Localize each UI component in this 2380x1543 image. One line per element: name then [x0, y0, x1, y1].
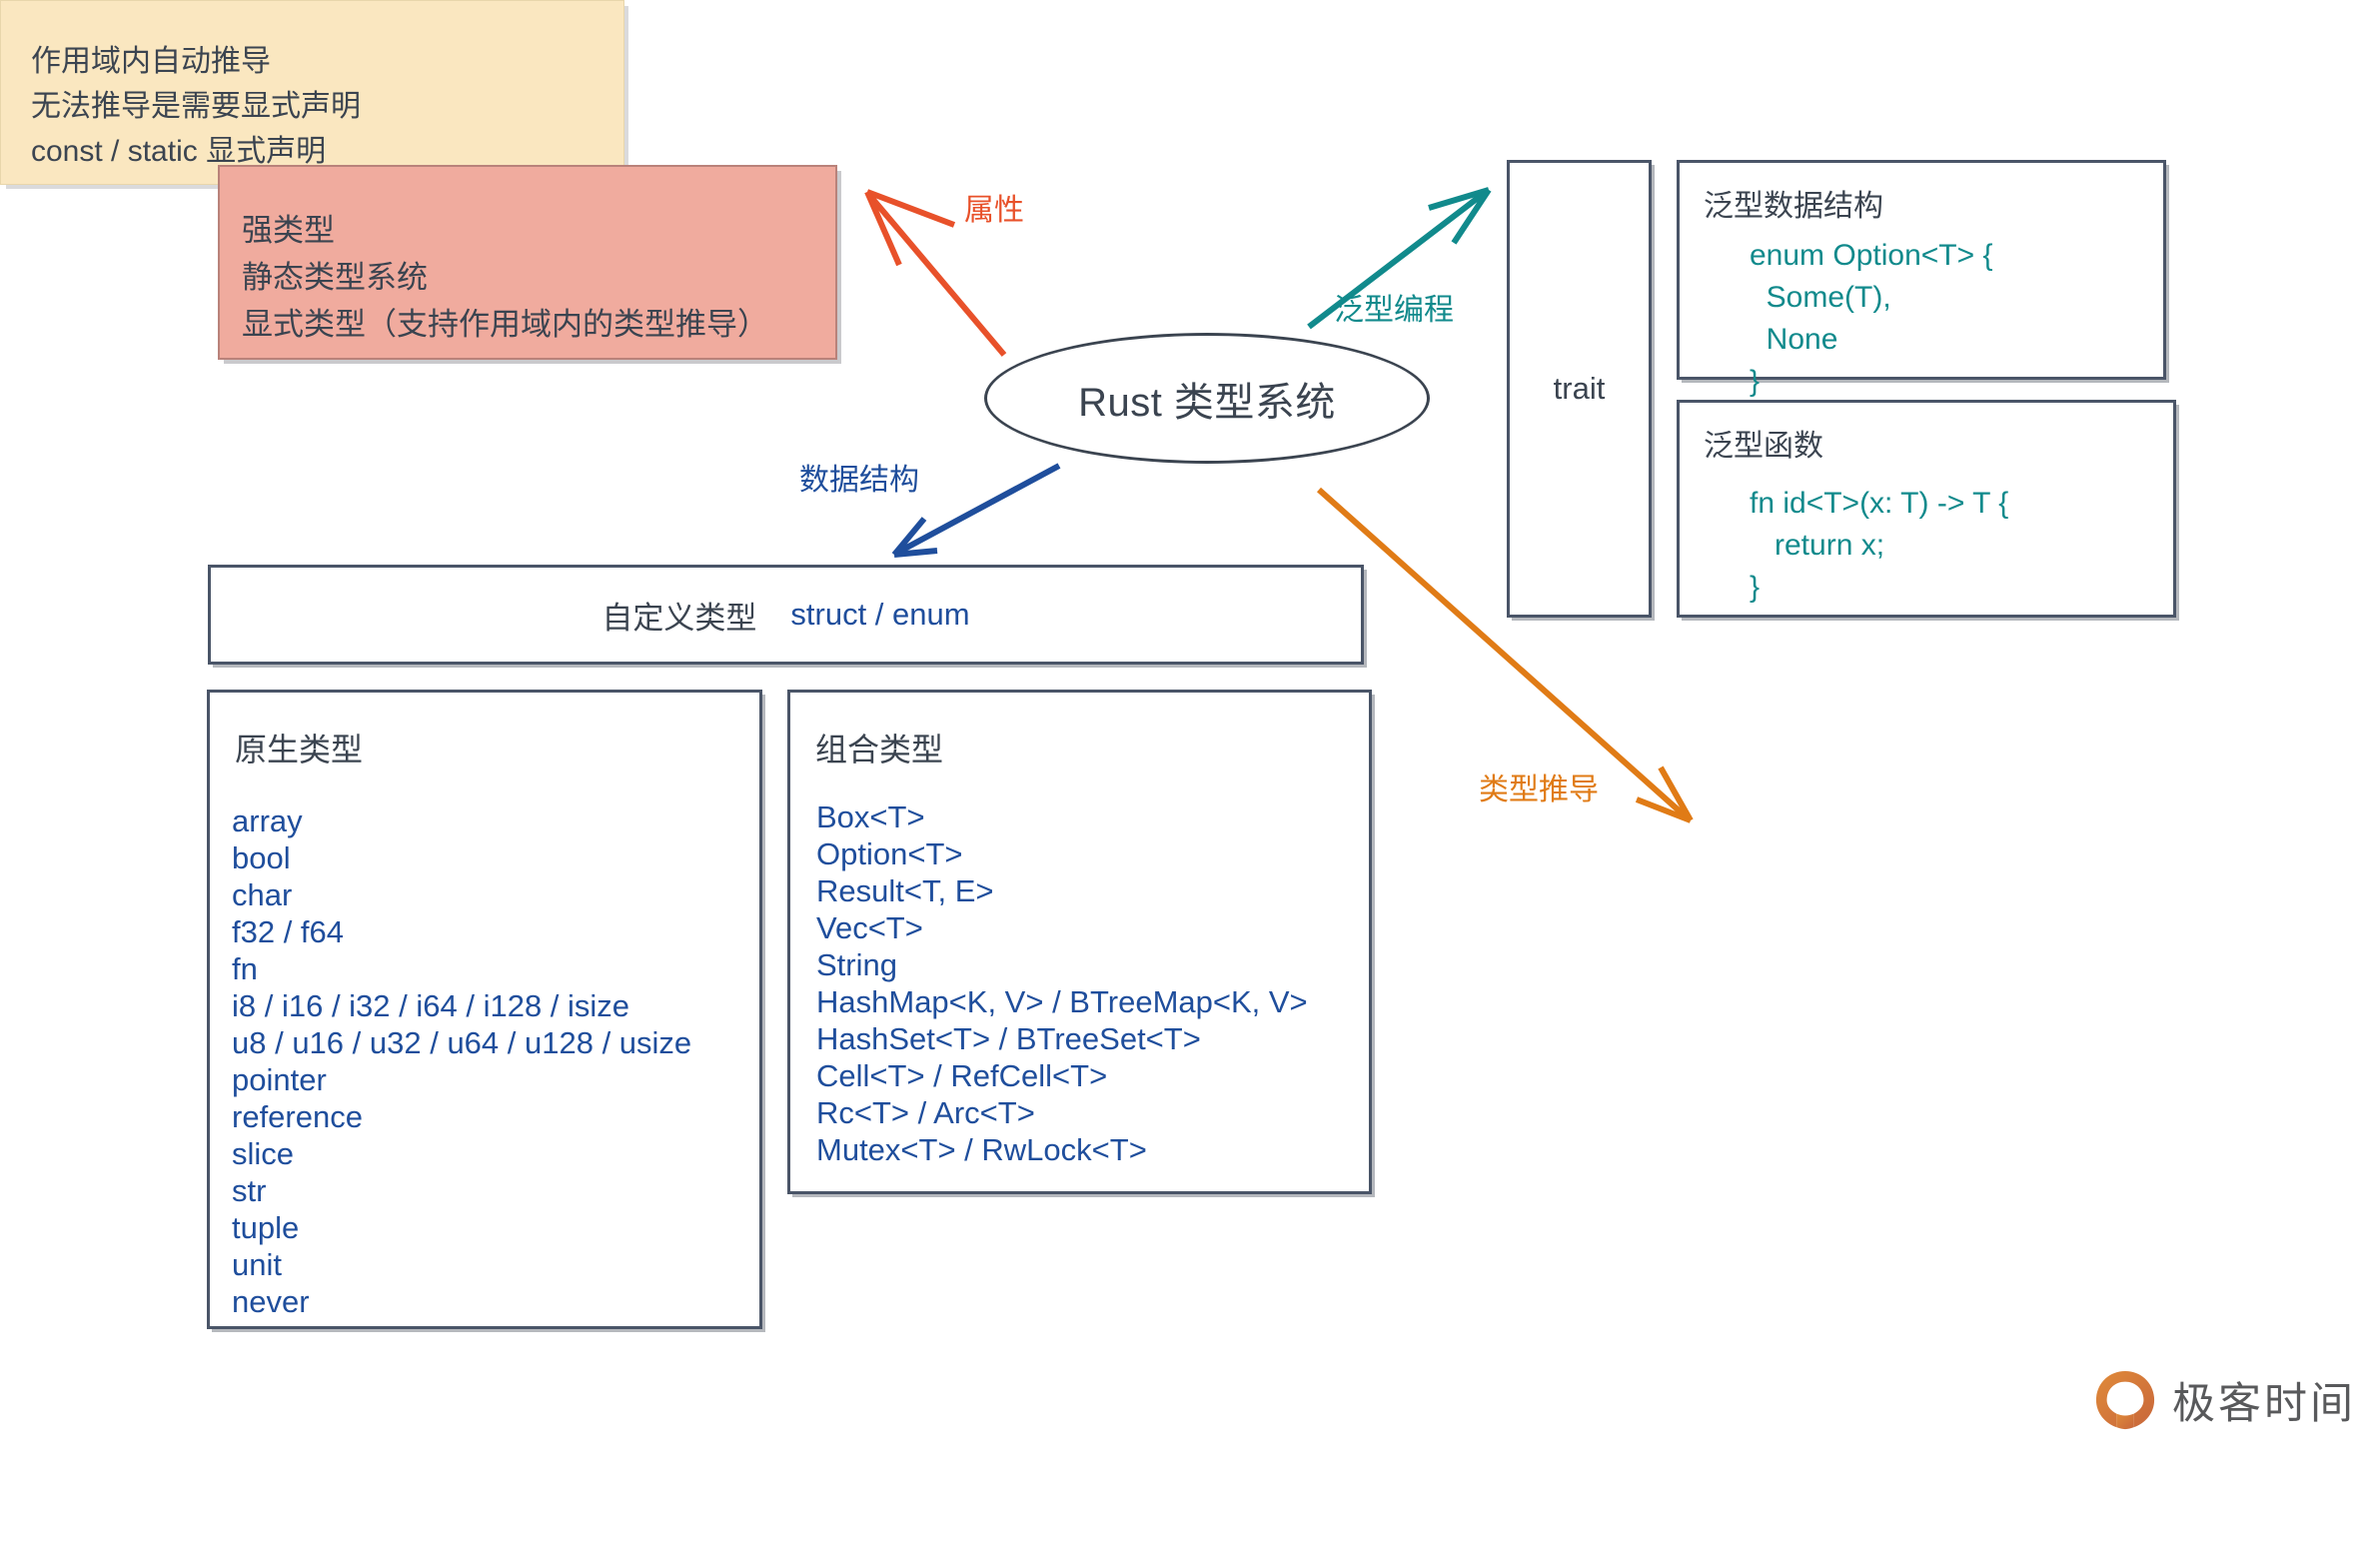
attributes-line: 显式类型（支持作用域内的类型推导）: [242, 301, 835, 348]
list-item: String: [816, 946, 1308, 983]
list-item: slice: [232, 1135, 691, 1172]
list-item: pointer: [232, 1061, 691, 1098]
trait-box: trait: [1507, 160, 1652, 618]
list-item: f32 / f64: [232, 913, 691, 950]
list-item: Result<T, E>: [816, 872, 1308, 909]
list-item: tuple: [232, 1209, 691, 1246]
generic-data-structure-code: enum Option<T> { Some(T), None }: [1750, 235, 1993, 403]
generic-data-structure-title: 泛型数据结构: [1704, 181, 1883, 225]
primitive-types-list: array bool char f32 / f64 fn i8 / i16 / …: [232, 802, 691, 1320]
list-item: Box<T>: [816, 798, 1308, 835]
list-item: bool: [232, 839, 691, 876]
list-item: HashSet<T> / BTreeSet<T>: [816, 1020, 1308, 1057]
attributes-line: 强类型: [242, 207, 835, 254]
geek-time-logo-text: 极客时间: [2172, 1369, 2356, 1431]
center-node-label: Rust 类型系统: [1078, 370, 1336, 428]
arrow-label-type-inference: 类型推导: [1479, 765, 1599, 808]
list-item: fn: [232, 950, 691, 987]
arrow-label-generic-programming: 泛型编程: [1334, 285, 1454, 329]
generic-function-box: 泛型函数 fn id<T>(x: T) -> T { return x; }: [1677, 400, 2176, 618]
list-item: i8 / i16 / i32 / i64 / i128 / isize: [232, 987, 691, 1024]
trait-label: trait: [1554, 371, 1606, 407]
list-item: str: [232, 1172, 691, 1209]
arrow-label-data-structure: 数据结构: [799, 455, 919, 499]
primitive-types-box: 原生类型 array bool char f32 / f64 fn i8 / i…: [207, 690, 762, 1329]
list-item: Cell<T> / RefCell<T>: [816, 1057, 1308, 1094]
list-item: Mutex<T> / RwLock<T>: [816, 1131, 1308, 1168]
diagram-canvas: 强类型 静态类型系统 显式类型（支持作用域内的类型推导） 属性 泛型编程 数据结…: [0, 0, 2380, 1543]
list-item: reference: [232, 1098, 691, 1135]
geekbang-logo: 极客时间: [2094, 1369, 2356, 1431]
custom-type-box: 自定义类型 struct / enum: [208, 565, 1364, 665]
attributes-line: 静态类型系统: [242, 254, 835, 301]
list-item: unit: [232, 1246, 691, 1283]
custom-type-value: struct / enum: [790, 597, 969, 633]
arrow-label-attributes: 属性: [964, 185, 1024, 229]
generic-data-structure-box: 泛型数据结构 enum Option<T> { Some(T), None }: [1677, 160, 2166, 380]
list-item: HashMap<K, V> / BTreeMap<K, V>: [816, 983, 1308, 1020]
primitive-types-title: 原生类型: [235, 725, 363, 771]
list-item: Vec<T>: [816, 909, 1308, 946]
list-item: array: [232, 802, 691, 839]
composite-types-title: 组合类型: [815, 725, 943, 771]
center-node-rust-type-system: Rust 类型系统: [984, 333, 1430, 464]
list-item: char: [232, 876, 691, 913]
attributes-box: 强类型 静态类型系统 显式类型（支持作用域内的类型推导）: [218, 165, 837, 360]
composite-types-box: 组合类型 Box<T> Option<T> Result<T, E> Vec<T…: [787, 690, 1372, 1194]
generic-function-code: fn id<T>(x: T) -> T { return x; }: [1750, 483, 2008, 609]
list-item: never: [232, 1283, 691, 1320]
generic-function-title: 泛型函数: [1704, 421, 1823, 465]
list-item: u8 / u16 / u32 / u64 / u128 / usize: [232, 1024, 691, 1061]
list-item: Rc<T> / Arc<T>: [816, 1094, 1308, 1131]
geek-time-logo-icon: [2094, 1369, 2156, 1431]
list-item: Option<T>: [816, 835, 1308, 872]
custom-type-label: 自定义类型: [601, 593, 756, 638]
composite-types-list: Box<T> Option<T> Result<T, E> Vec<T> Str…: [816, 798, 1308, 1168]
